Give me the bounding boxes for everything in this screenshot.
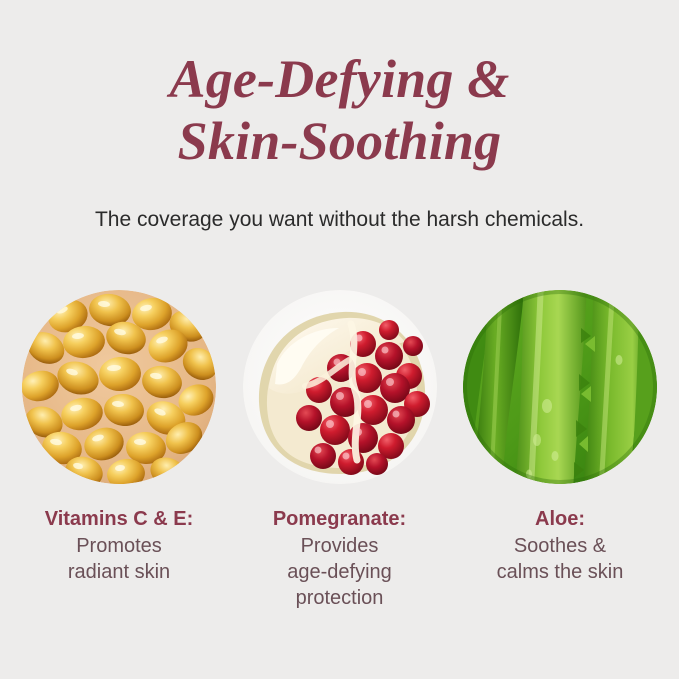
ingredient-columns: Vitamins C & E: Promotes radiant skin [0, 290, 679, 611]
ingredient-caption-vitamins: Vitamins C & E: Promotes radiant skin [9, 506, 229, 585]
ingredient-body: Promotes radiant skin [9, 533, 229, 585]
ingredient-body-line: radiant skin [9, 559, 229, 585]
aloe-leaves-photo [463, 290, 657, 484]
infographic-page: Age-Defying & Skin-Soothing The coverage… [0, 0, 679, 679]
ingredient-body-line: Promotes [9, 533, 229, 559]
page-title: Age-Defying & Skin-Soothing [0, 48, 679, 172]
ingredient-body-line: protection [230, 585, 450, 611]
ingredient-body-line: Soothes & [450, 533, 670, 559]
page-title-line-1: Age-Defying & [0, 48, 679, 110]
vitamin-capsules-photo [22, 290, 216, 484]
ingredient-title: Pomegranate: [230, 506, 450, 532]
ingredient-column-vitamins: Vitamins C & E: Promotes radiant skin [22, 290, 216, 611]
ingredient-title: Vitamins C & E: [9, 506, 229, 532]
ingredient-body-line: Provides [230, 533, 450, 559]
ingredient-caption-pomegranate: Pomegranate: Provides age-defying protec… [230, 506, 450, 611]
ingredient-body: Soothes & calms the skin [450, 533, 670, 585]
ingredient-column-aloe: Aloe: Soothes & calms the skin [463, 290, 657, 611]
page-title-line-2: Skin-Soothing [0, 110, 679, 172]
page-subtitle: The coverage you want without the harsh … [0, 206, 679, 234]
ingredient-body: Provides age-defying protection [230, 533, 450, 611]
ingredient-body-line: calms the skin [450, 559, 670, 585]
ingredient-caption-aloe: Aloe: Soothes & calms the skin [450, 506, 670, 585]
ingredient-body-line: age-defying [230, 559, 450, 585]
pomegranate-photo [243, 290, 437, 484]
ingredient-title: Aloe: [450, 506, 670, 532]
ingredient-column-pomegranate: Pomegranate: Provides age-defying protec… [243, 290, 437, 611]
